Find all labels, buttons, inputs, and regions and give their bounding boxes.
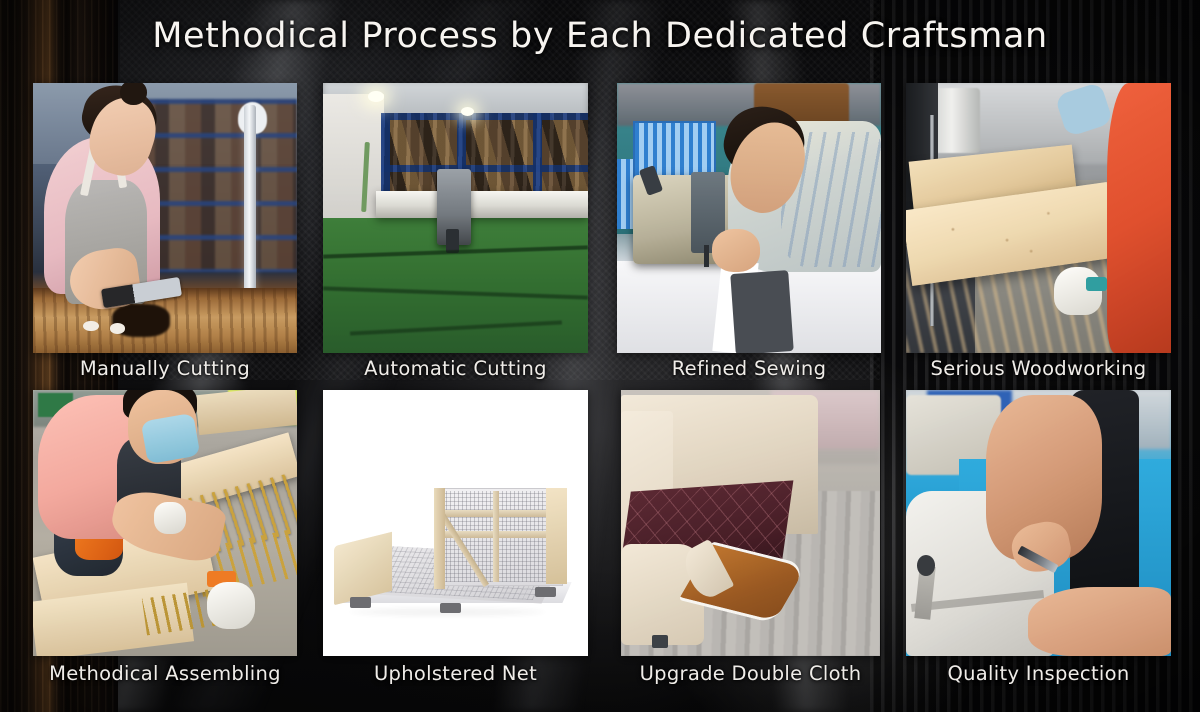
process-caption-serious-woodworking: Serious Woodworking [892, 357, 1185, 380]
process-caption-upgrade-double-cloth: Upgrade Double Cloth [607, 662, 894, 685]
process-caption-methodical-assembling: Methodical Assembling [19, 662, 311, 685]
process-caption-manually-cutting: Manually Cutting [19, 357, 311, 380]
process-photo-upgrade-double-cloth [621, 390, 880, 656]
process-tile-upholstered-net[interactable]: Upholstered Net [323, 390, 588, 656]
process-photo-serious-woodworking [906, 83, 1171, 353]
process-caption-upholstered-net: Upholstered Net [309, 662, 602, 685]
process-photo-automatic-cutting [323, 83, 588, 353]
process-photo-quality-inspection [906, 390, 1171, 656]
process-photo-refined-sewing [617, 83, 881, 353]
process-tile-refined-sewing[interactable]: Refined Sewing [617, 83, 881, 353]
process-photo-methodical-assembling [33, 390, 297, 656]
process-photo-upholstered-net [323, 390, 588, 656]
process-caption-quality-inspection: Quality Inspection [892, 662, 1185, 685]
process-tile-upgrade-double-cloth[interactable]: Upgrade Double Cloth [621, 390, 880, 656]
process-tile-grid: Manually Cutting Automatic Cutting [0, 0, 1200, 712]
process-caption-automatic-cutting: Automatic Cutting [309, 357, 602, 380]
process-gallery-banner: Methodical Process by Each Dedicated Cra… [0, 0, 1200, 712]
process-photo-manually-cutting [33, 83, 297, 353]
process-tile-manually-cutting[interactable]: Manually Cutting [33, 83, 297, 353]
process-tile-automatic-cutting[interactable]: Automatic Cutting [323, 83, 588, 353]
process-tile-methodical-assembling[interactable]: Methodical Assembling [33, 390, 297, 656]
process-tile-quality-inspection[interactable]: Quality Inspection [906, 390, 1171, 656]
process-tile-serious-woodworking[interactable]: Serious Woodworking [906, 83, 1171, 353]
process-caption-refined-sewing: Refined Sewing [603, 357, 895, 380]
